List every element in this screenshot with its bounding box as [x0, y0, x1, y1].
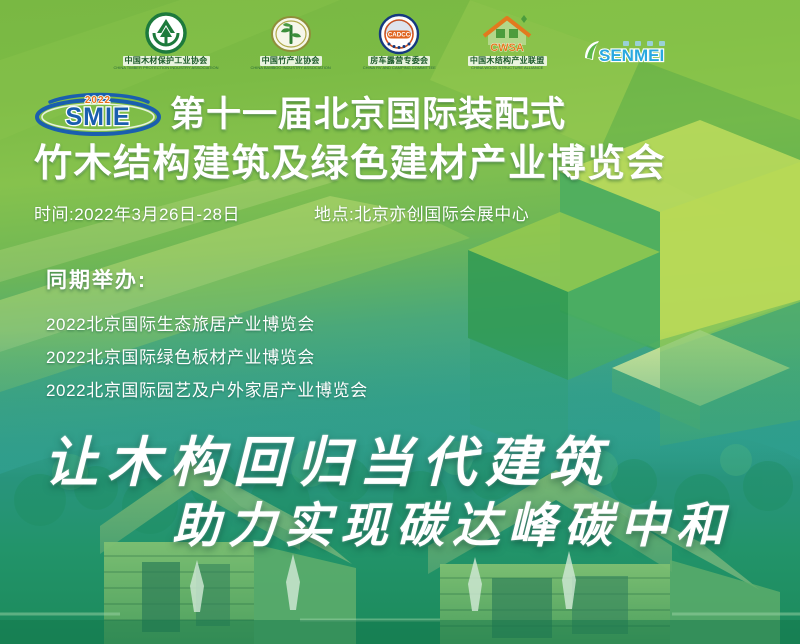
cadcc-roundel-icon: CADCC — [378, 13, 420, 55]
sponsor-logo-sublabel: CHINA BAMBOO INDUSTRY ASSOCIATION — [251, 66, 331, 70]
slogan-secondary: 助力实现碳达峰碳中和 — [172, 486, 732, 556]
event-meta-row: 时间:2022年3月26日-28日 地点:北京亦创国际会展中心 — [34, 200, 782, 225]
svg-text:CWSA: CWSA — [490, 42, 524, 54]
svg-text:SENMEI: SENMEI — [599, 46, 664, 65]
bamboo-seal-emblem-icon — [270, 13, 312, 55]
svg-text:SMIE: SMIE — [65, 103, 130, 131]
page-title-line-2: 竹木结构建筑及绿色建材产业博览会 — [34, 140, 782, 188]
sponsor-logo-senmei[interactable]: SENMEI — [579, 8, 687, 70]
headline-block: 2022 SMIE 第十一届北京国际装配式 竹木结构建筑及绿色建材产业博览会 时… — [34, 92, 782, 225]
sponsor-logo-strip: 中国木材保护工业协会 CHINA TIMBER PROTECTION INDUS… — [0, 0, 800, 78]
sponsor-logo-cadcc-rv-camping[interactable]: CADCC 房车露营专委会 CHINA RV AND CAMPING COMMI… — [363, 8, 436, 70]
concurrent-events-list: 2022北京国际生态旅居产业博览会 2022北京国际绿色板材产业博览会 2022… — [46, 308, 368, 407]
exhibition-poster: 中国木材保护工业协会 CHINA TIMBER PROTECTION INDUS… — [0, 0, 800, 644]
title-line-1-row: 2022 SMIE 第十一届北京国际装配式 — [34, 92, 782, 138]
event-date: 时间:2022年3月26日-28日 — [34, 200, 240, 225]
svg-text:CADCC: CADCC — [388, 32, 411, 39]
concurrent-events-block: 同期举办: 2022北京国际生态旅居产业博览会 2022北京国际绿色板材产业博览… — [46, 264, 368, 407]
sponsor-logo-china-timber-protection[interactable]: 中国木材保护工业协会 CHINA TIMBER PROTECTION INDUS… — [113, 8, 218, 70]
sponsor-logo-bamboo-industry-association[interactable]: 中国竹产业协会 CHINA BAMBOO INDUSTRY ASSOCIATIO… — [251, 8, 331, 70]
event-venue: 地点:北京亦创国际会展中心 — [314, 200, 529, 225]
concurrent-events-heading: 同期举办: — [46, 264, 368, 294]
house-roof-emblem-icon: CWSA — [474, 13, 540, 55]
smie-ellipse-logo[interactable]: 2022 SMIE — [34, 92, 162, 138]
sponsor-logo-sublabel: CHINA TIMBER PROTECTION INDUSTRY ASSOCIA… — [113, 66, 218, 70]
list-item: 2022北京国际园艺及户外家居产业博览会 — [46, 374, 368, 407]
list-item: 2022北京国际绿色板材产业博览会 — [46, 341, 368, 374]
page-title-line-1: 第十一届北京国际装配式 — [170, 93, 566, 137]
sponsor-logo-cwsa-wood-structure[interactable]: CWSA 中国木结构产业联盟 CHINA WOOD STRUCTURE ALLI… — [468, 8, 547, 70]
leaf-wordmark-icon: SENMEI — [579, 36, 687, 70]
sponsor-logo-sublabel: CHINA RV AND CAMPING COMMITTEE — [363, 66, 436, 70]
list-item: 2022北京国际生态旅居产业博览会 — [46, 308, 368, 341]
sponsor-logo-sublabel: CHINA WOOD STRUCTURE ALLIANCE — [471, 66, 543, 70]
tree-shield-emblem-icon — [144, 11, 188, 55]
